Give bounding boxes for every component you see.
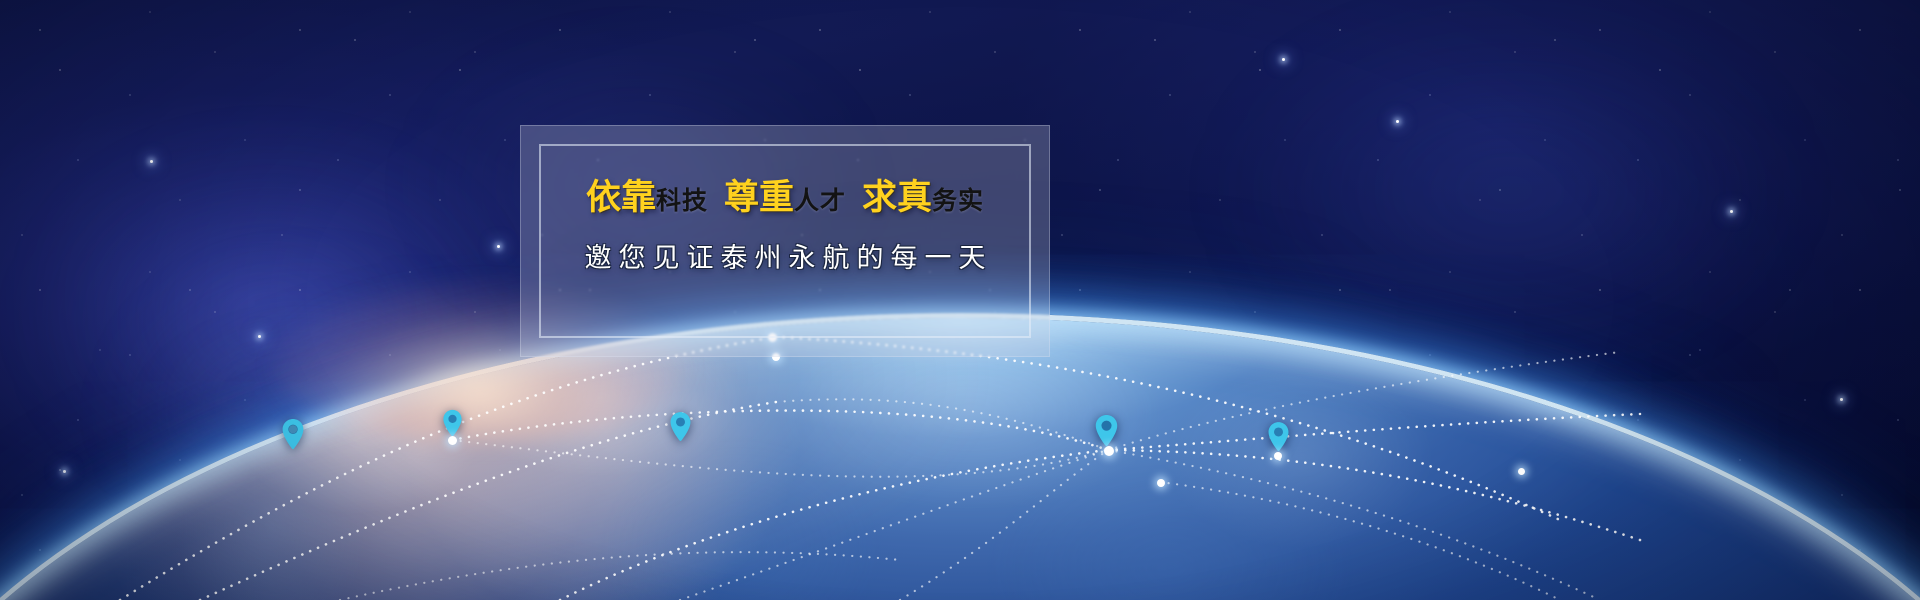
star-icon: [1840, 398, 1843, 401]
star-icon: [1282, 58, 1285, 61]
slogan-seg-2-highlight: 尊重: [724, 177, 794, 218]
route-hub-dot: [1157, 479, 1165, 487]
star-icon: [1396, 120, 1399, 123]
star-icon: [63, 470, 66, 473]
slogan-frame: 依靠科技尊重人才求真务实 邀您见证泰州永航的每一天: [520, 125, 1050, 357]
slogan-seg-1-highlight: 依靠: [586, 177, 656, 218]
route-hub-dot: [448, 436, 457, 445]
route-hub-dot: [1518, 468, 1525, 475]
star-icon: [497, 245, 500, 248]
slogan-line-1: 依靠科技尊重人才求真务实: [521, 180, 1049, 215]
slogan-seg-1-normal: 科技: [656, 186, 708, 215]
route-hub-dot: [1104, 446, 1114, 456]
slogan-seg-2-normal: 人才: [794, 186, 846, 215]
route-hub-dot: [1274, 452, 1282, 460]
star-icon: [258, 335, 261, 338]
hero-banner: 依靠科技尊重人才求真务实 邀您见证泰州永航的每一天: [0, 0, 1920, 600]
slogan-block: 依靠科技尊重人才求真务实 邀您见证泰州永航的每一天: [521, 180, 1049, 272]
star-icon: [150, 160, 153, 163]
slogan-line-2: 邀您见证泰州永航的每一天: [521, 245, 1049, 272]
slogan-seg-3-highlight: 求真: [862, 177, 932, 218]
star-icon: [1730, 210, 1733, 213]
slogan-seg-3-normal: 务实: [932, 186, 984, 215]
